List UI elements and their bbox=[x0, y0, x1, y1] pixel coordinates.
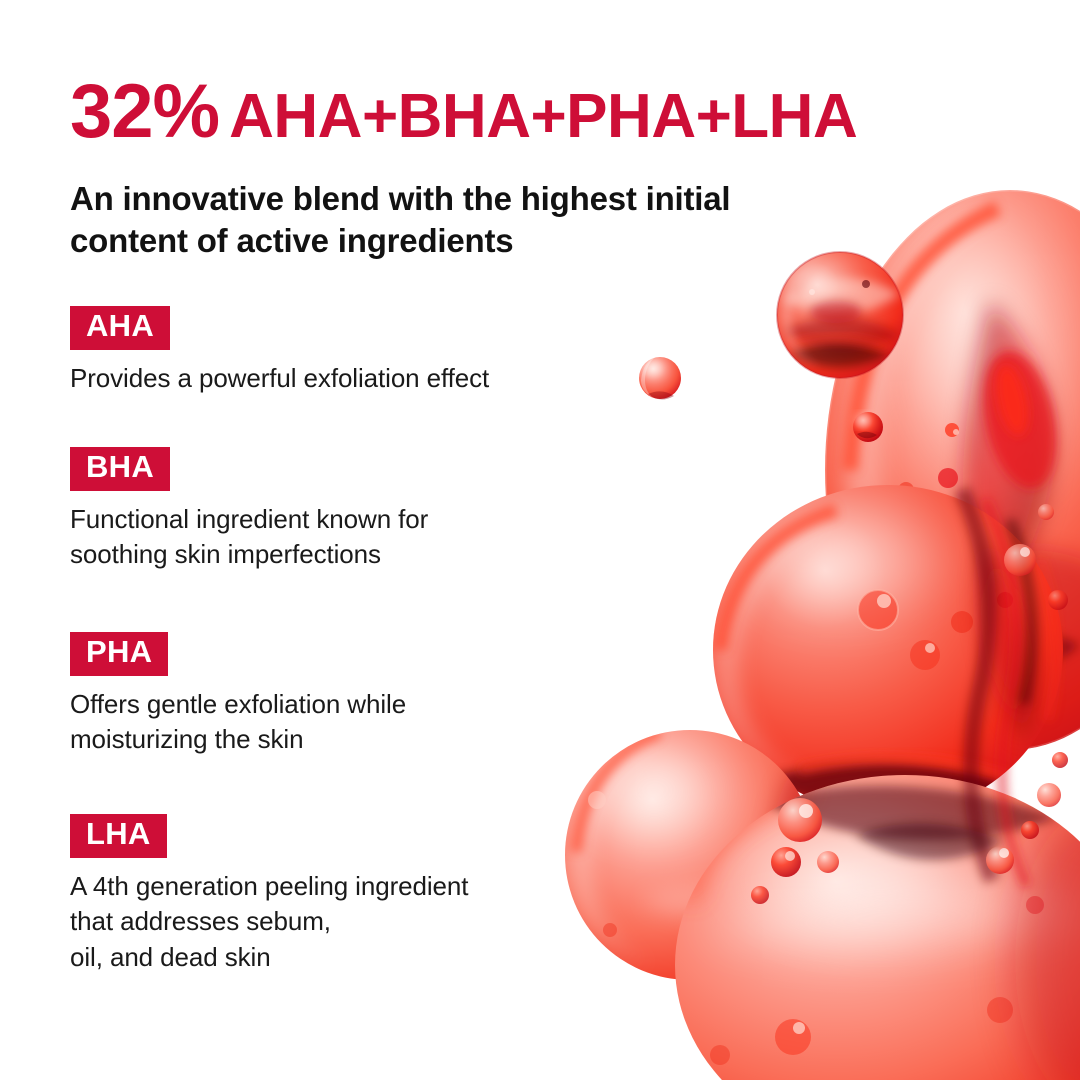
page-title: 32%AHA+BHA+PHA+LHA bbox=[70, 74, 857, 150]
description-pha-line-2: moisturizing the skin bbox=[70, 722, 406, 758]
subheading-line-2: content of active ingredients bbox=[70, 220, 850, 262]
description-aha: Provides a powerful exfoliation effect bbox=[70, 361, 489, 397]
product-infographic: 32%AHA+BHA+PHA+LHA An innovative blend w… bbox=[0, 0, 1080, 1080]
badge-lha: LHA bbox=[70, 814, 167, 858]
description-pha-line-1: Offers gentle exfoliation while bbox=[70, 687, 406, 723]
ingredient-block-aha: AHA Provides a powerful exfoliation effe… bbox=[70, 306, 489, 396]
subheading-line-1: An innovative blend with the highest ini… bbox=[70, 180, 730, 217]
description-bha-line-1: Functional ingredient known for bbox=[70, 502, 428, 538]
ingredient-block-pha: PHA Offers gentle exfoliation while mois… bbox=[70, 632, 406, 758]
ingredient-block-lha: LHA A 4th generation peeling ingredient … bbox=[70, 814, 468, 975]
badge-pha: PHA bbox=[70, 632, 168, 676]
description-lha-line-1: A 4th generation peeling ingredient bbox=[70, 869, 468, 905]
badge-bha: BHA bbox=[70, 447, 170, 491]
subheading: An innovative blend with the highest ini… bbox=[70, 178, 850, 262]
badge-aha: AHA bbox=[70, 306, 170, 350]
ingredient-block-bha: BHA Functional ingredient known for soot… bbox=[70, 447, 428, 573]
description-bha: Functional ingredient known for soothing… bbox=[70, 502, 428, 573]
description-pha: Offers gentle exfoliation while moisturi… bbox=[70, 687, 406, 758]
description-bha-line-2: soothing skin imperfections bbox=[70, 537, 428, 573]
headline-percent: 32% bbox=[70, 69, 219, 154]
headline-acids: AHA+BHA+PHA+LHA bbox=[229, 82, 857, 151]
description-lha-line-2: that addresses sebum, bbox=[70, 904, 468, 940]
description-lha: A 4th generation peeling ingredient that… bbox=[70, 869, 468, 976]
description-lha-line-3: oil, and dead skin bbox=[70, 940, 468, 976]
description-aha-line-1: Provides a powerful exfoliation effect bbox=[70, 361, 489, 397]
